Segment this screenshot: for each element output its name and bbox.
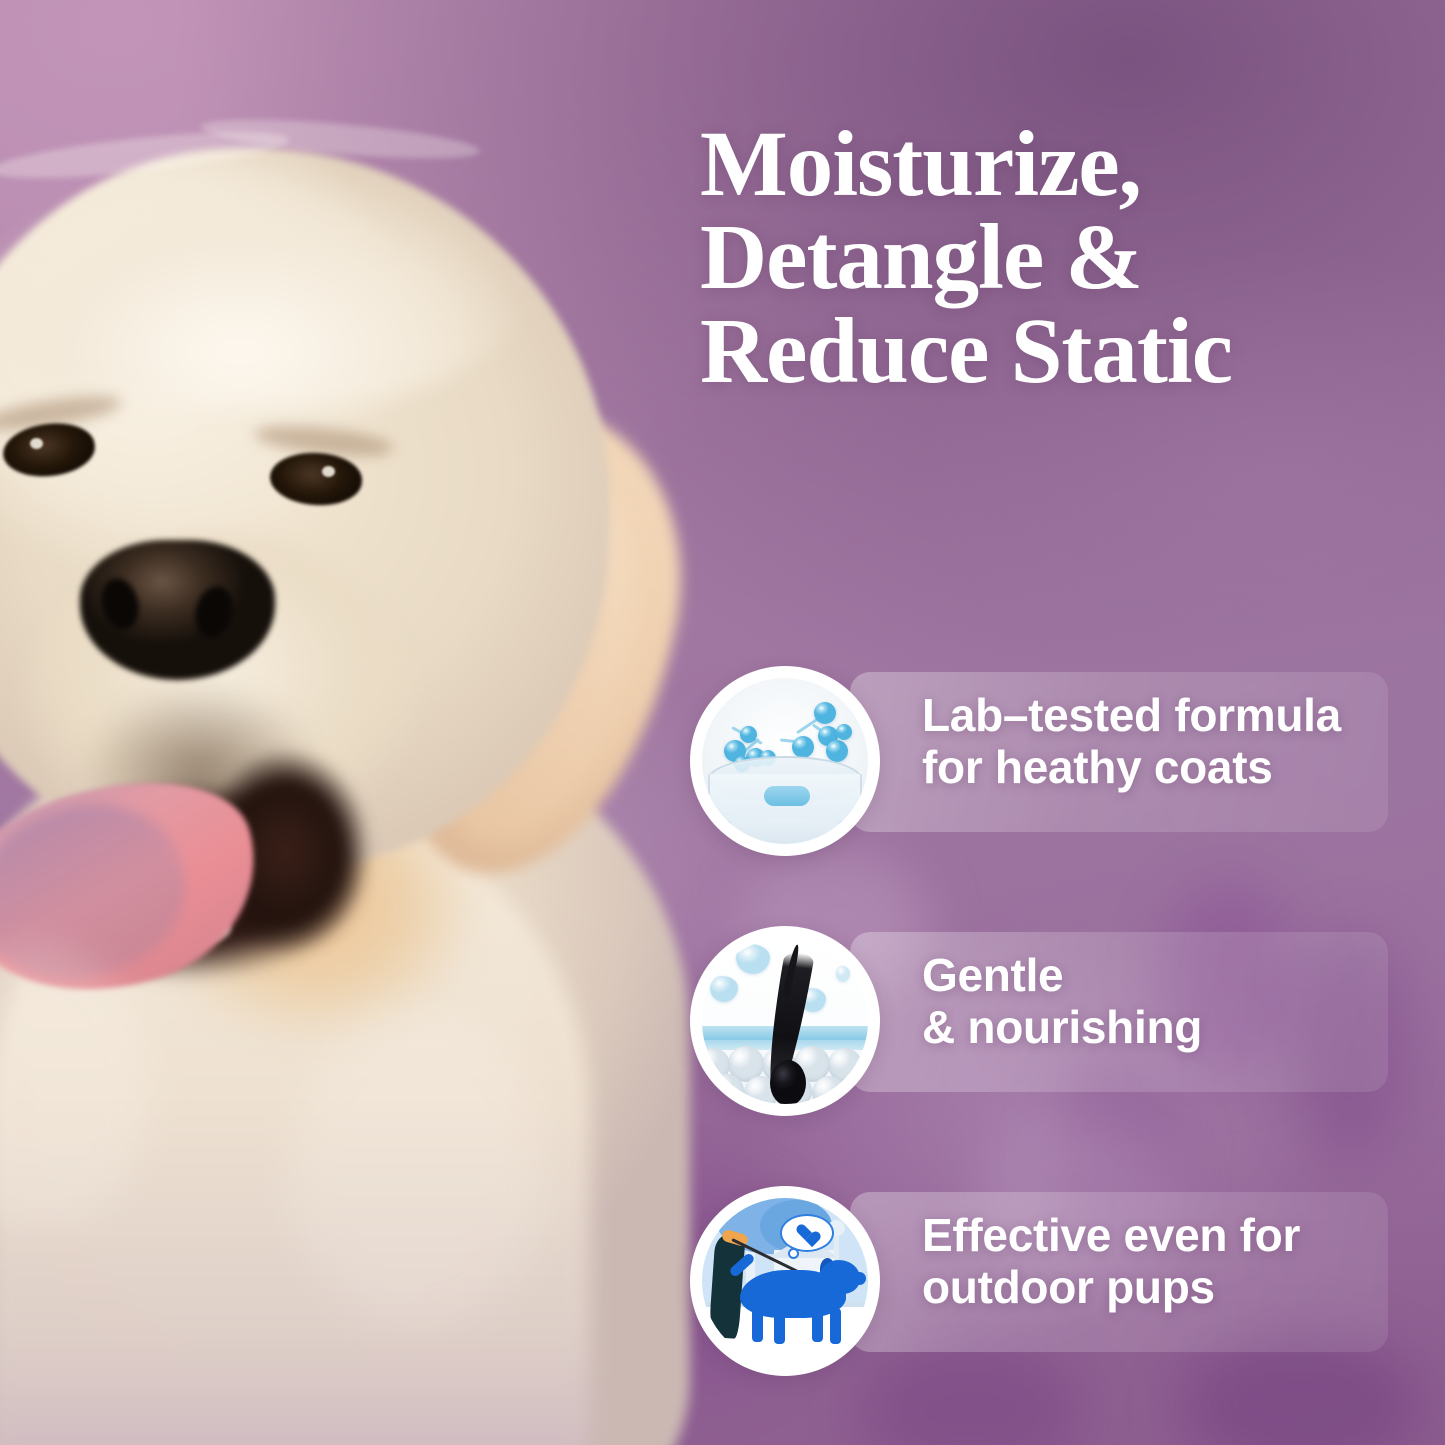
hair-follicle-hydration-icon [690, 926, 880, 1116]
feature-item: Effective even for outdoor pups [690, 1186, 1390, 1358]
headline-line-3: Reduce Static [700, 307, 1430, 396]
feature-label: Gentle & nourishing [922, 950, 1202, 1054]
dog-fur-wisp [290, 1008, 550, 1328]
feature-label-line-2: & nourishing [922, 1002, 1202, 1054]
dog-walking-outdoors-icon [690, 1186, 880, 1376]
feature-label-line-1: Effective even for [922, 1210, 1300, 1262]
petri-dish-molecule-icon [690, 666, 880, 856]
dog-eye-highlight [30, 438, 43, 449]
headline-line-2: Detangle & [700, 213, 1430, 302]
feature-item: Gentle & nourishing [690, 926, 1390, 1098]
feature-label-line-2: for heathy coats [922, 742, 1341, 794]
headline-line-1: Moisturize, [700, 120, 1430, 209]
headline: Moisturize, Detangle & Reduce Static [700, 120, 1430, 396]
feature-label-line-2: outdoor pups [922, 1262, 1300, 1314]
feature-label: Lab–tested formula for heathy coats [922, 690, 1341, 794]
feature-label: Effective even for outdoor pups [922, 1210, 1300, 1314]
feature-label-line-1: Lab–tested formula [922, 690, 1341, 742]
feature-list: Lab–tested formula for heathy coats [690, 666, 1390, 1358]
feature-label-line-1: Gentle [922, 950, 1202, 1002]
product-feature-banner: Moisturize, Detangle & Reduce Static [0, 0, 1445, 1445]
dog-eye-highlight [322, 466, 335, 477]
feature-item: Lab–tested formula for heathy coats [690, 666, 1390, 838]
